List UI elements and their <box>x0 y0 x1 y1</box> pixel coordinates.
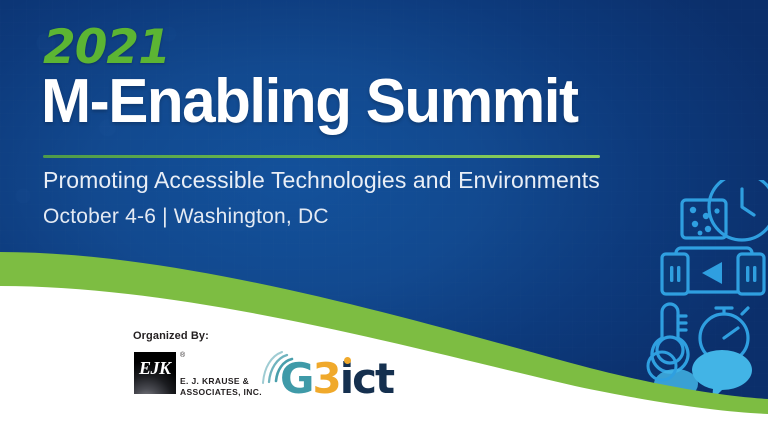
ejk-mark-icon: EJK <box>134 352 176 394</box>
g3ict-letter-3: 3 <box>312 354 339 403</box>
organized-by-label: Organized By: <box>133 330 209 342</box>
event-tagline: Promoting Accessible Technologies and En… <box>43 165 600 195</box>
ejk-company-name-line2: Associates, Inc. <box>180 387 262 398</box>
event-dateline: October 4-6 | Washington, DC <box>43 203 329 231</box>
g3ict-wordmark: G3ict <box>280 356 393 402</box>
event-banner: 2021 M-Enabling Summit Promoting Accessi… <box>0 0 768 426</box>
registered-trademark-icon: ® <box>180 352 185 359</box>
ejk-logo: EJK <box>134 352 178 396</box>
title-divider <box>43 155 600 158</box>
g3ict-letter-g: G <box>280 354 312 403</box>
page-title: M-Enabling Summit <box>41 66 578 138</box>
ejk-company-name: E. J. Krause & Associates, Inc. <box>180 376 262 398</box>
g3ict-logo: G3ict <box>262 350 402 406</box>
ejk-mark-text: EJK <box>139 358 171 378</box>
ejk-company-name-line1: E. J. Krause & <box>180 376 262 387</box>
g3ict-dot-accent-icon <box>344 357 351 364</box>
